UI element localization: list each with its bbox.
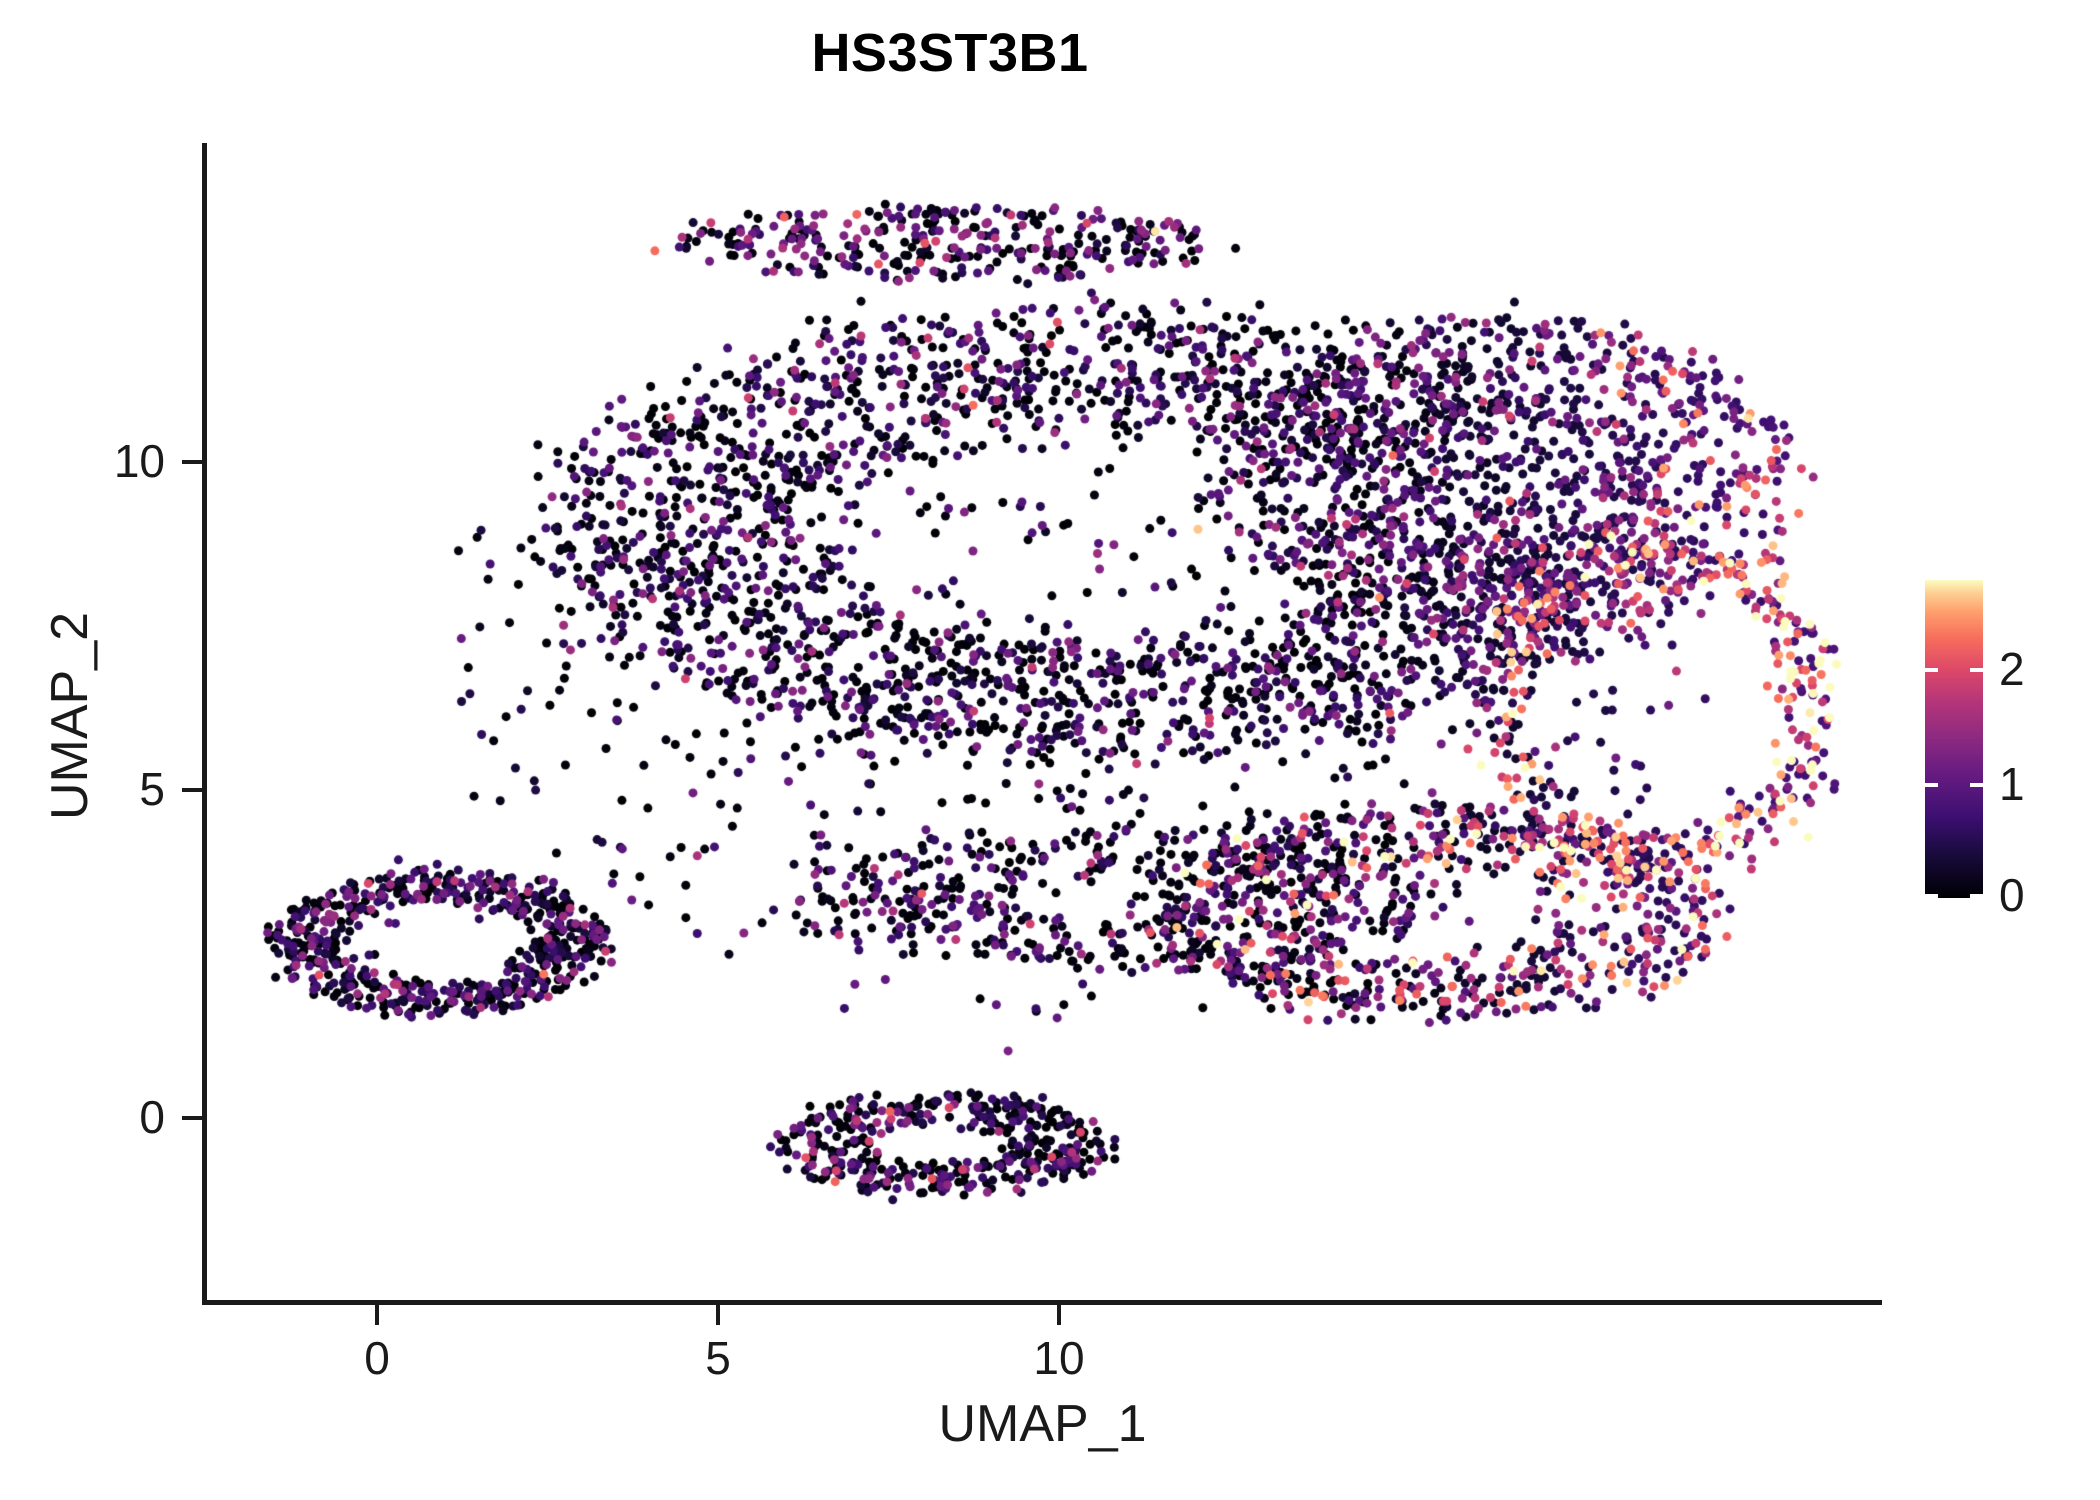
plot-panel <box>205 143 1880 1303</box>
colorbar-tick-2-right <box>1970 668 1983 672</box>
colorbar-tick-0-left <box>1925 894 1938 898</box>
x-axis-title: UMAP_1 <box>205 1398 1880 1450</box>
x-tick-label-10: 10 <box>989 1335 1129 1381</box>
colorbar-tick-1-left <box>1925 783 1938 787</box>
colorbar-tick-2-left <box>1925 668 1938 672</box>
page-title: HS3ST3B1 <box>0 26 1900 80</box>
x-tick-label-5: 5 <box>648 1335 788 1381</box>
colorbar-label-2: 2 <box>1999 646 2025 692</box>
x-tick-mark-5 <box>716 1305 720 1325</box>
y-axis-title: UMAP_2 <box>44 136 96 1296</box>
colorbar-tick-0-right <box>1970 894 1983 898</box>
figure-canvas: HS3ST3B1 10 5 0 0 5 10 UMAP_1 UMAP_2 2 1… <box>0 0 2100 1500</box>
y-axis-line <box>202 143 207 1305</box>
y-tick-mark-0 <box>182 1116 202 1120</box>
colorbar-legend: 2 1 0 <box>1925 580 2085 900</box>
x-tick-label-0: 0 <box>307 1335 447 1381</box>
colorbar-label-1: 1 <box>1999 761 2025 807</box>
x-axis-line <box>202 1300 1882 1305</box>
colorbar-label-0: 0 <box>1999 872 2025 918</box>
x-tick-mark-0 <box>375 1305 379 1325</box>
colorbar-gradient <box>1925 580 1983 898</box>
colorbar-tick-1-right <box>1970 783 1983 787</box>
y-tick-mark-10 <box>182 460 202 464</box>
scatter-plot-points <box>205 143 1880 1303</box>
y-tick-mark-5 <box>182 788 202 792</box>
x-tick-mark-10 <box>1057 1305 1061 1325</box>
